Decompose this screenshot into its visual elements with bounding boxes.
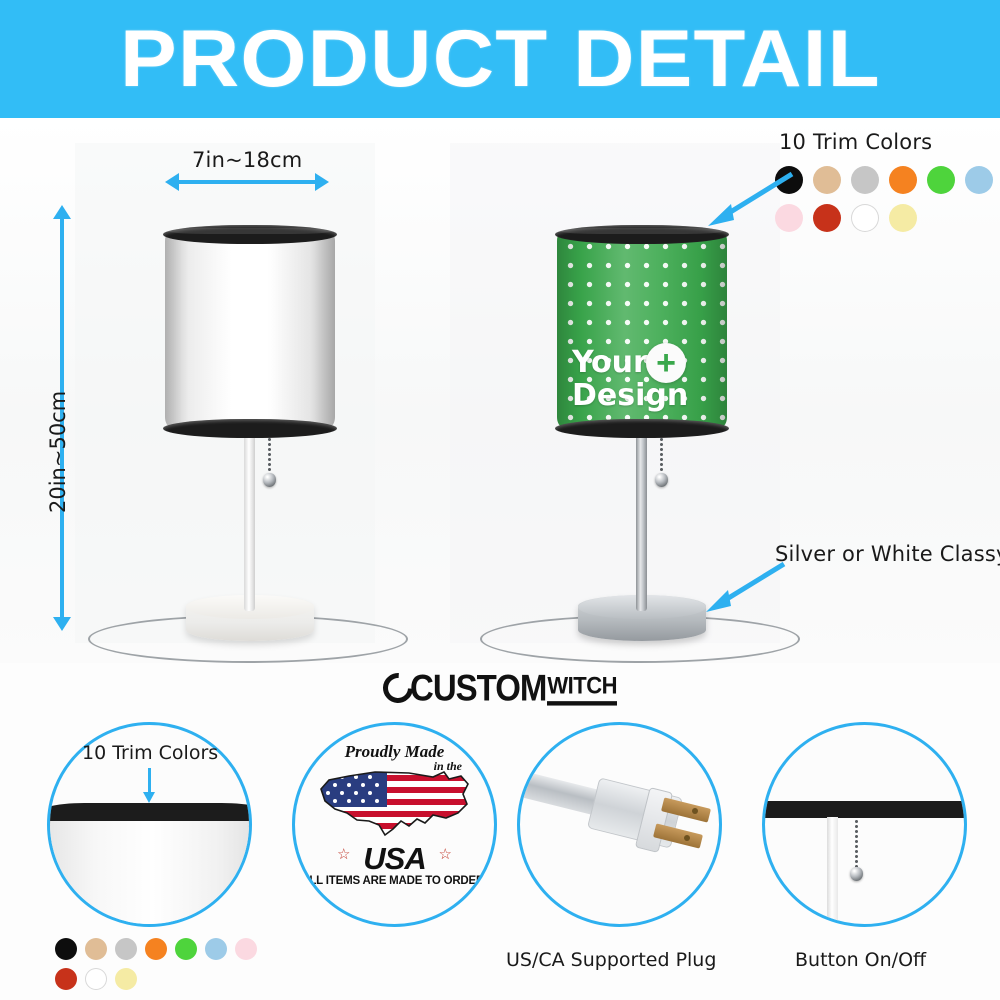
trim-swatch-light-blue[interactable] [205,938,227,960]
base-finish-label: Silver or White Classy [775,542,1000,566]
trim-color-swatches [775,166,1000,232]
page-title: PRODUCT DETAIL [120,13,881,105]
trim-swatch-yellow[interactable] [889,204,917,232]
feature-button-circle [762,722,967,927]
trim-swatch-red[interactable] [813,204,841,232]
trim-swatch-gray[interactable] [851,166,879,194]
width-dimension-label: 7in~18cm [192,148,302,172]
brand-logo: CUSTOM WITCH [0,663,1000,713]
feature-trim-colors-label: 10 Trim Colors [82,742,218,764]
trim-colors-pointer-arrow [700,168,800,228]
closeup-chain-ball[interactable] [850,867,863,881]
trim-swatch-green[interactable] [927,166,955,194]
white-lamp-shade-surface [165,231,335,427]
brand-word-witch: WITCH [547,671,617,705]
usa-proudly-made-text: Proudly Made [295,742,494,762]
design-text-line1: Your [572,348,648,378]
closeup-button-pole [827,817,838,927]
trim-swatch-white[interactable] [851,204,879,232]
green-lamp-shade: Your + Design [557,231,727,427]
main-product-stage: 7in~18cm 20in~50cm [0,118,1000,663]
white-lamp-trim-top [163,225,337,244]
trim-swatch-white[interactable] [85,968,107,990]
feature-trim-colors-arrow [148,768,151,793]
add-design-plus-icon[interactable]: + [646,343,686,383]
plug-pin-upper-hole [692,808,698,814]
trim-swatch-pink[interactable] [235,938,257,960]
base-finish-pointer-arrow [700,558,790,618]
width-dimension-arrow [178,180,316,184]
bottom-trim-color-swatches [55,938,275,990]
green-lamp-chain-ball[interactable] [655,473,668,487]
plug-pin-lower-hole [684,835,690,841]
trim-swatch-orange[interactable] [145,938,167,960]
trim-swatch-orange[interactable] [889,166,917,194]
usa-map-flag-icon [313,763,483,843]
white-lamp [160,203,340,643]
feature-plug-label: US/CA Supported Plug [506,949,716,971]
trim-swatch-light-blue[interactable] [965,166,993,194]
usa-badge-content: Proudly Made in the [295,725,494,924]
closeup-shade-surface [47,821,252,927]
green-lamp-pole [636,425,647,611]
product-detail-infographic: PRODUCT DETAIL 7in~18cm 20in~50cm [0,0,1000,1000]
usa-made-to-order-text: ALL ITEMS ARE MADE TO ORDER! [295,875,494,887]
feature-plug-circle [517,722,722,927]
white-lamp-chain-ball[interactable] [263,473,276,487]
white-lamp-pole [244,425,255,611]
usa-star-right-icon: ☆ [439,845,452,863]
white-lamp-shade [165,231,335,427]
trim-swatch-gray[interactable] [115,938,137,960]
feature-button-label: Button On/Off [795,949,926,971]
white-lamp-pull-chain[interactable] [268,437,271,475]
design-text-line2: Design [572,381,688,411]
closeup-pull-chain[interactable] [855,819,858,869]
usa-country-text: USA [295,841,494,877]
plus-glyph: + [656,349,676,377]
trim-swatch-tan[interactable] [85,938,107,960]
green-lamp-trim-bottom [555,419,729,438]
trim-colors-title: 10 Trim Colors [779,130,932,154]
height-dimension-label: 20in~50cm [46,391,70,513]
trim-swatch-green[interactable] [175,938,197,960]
feature-made-in-usa-circle: Proudly Made in the [292,722,497,927]
closeup-button-trim [762,801,967,818]
brand-word-custom: CUSTOM [410,667,546,710]
trim-swatch-red[interactable] [55,968,77,990]
green-lamp-pull-chain[interactable] [660,437,663,475]
trim-swatch-black[interactable] [55,938,77,960]
white-lamp-trim-bottom [163,419,337,438]
trim-swatch-tan[interactable] [813,166,841,194]
header-banner: PRODUCT DETAIL [0,0,1000,118]
trim-swatch-yellow[interactable] [115,968,137,990]
